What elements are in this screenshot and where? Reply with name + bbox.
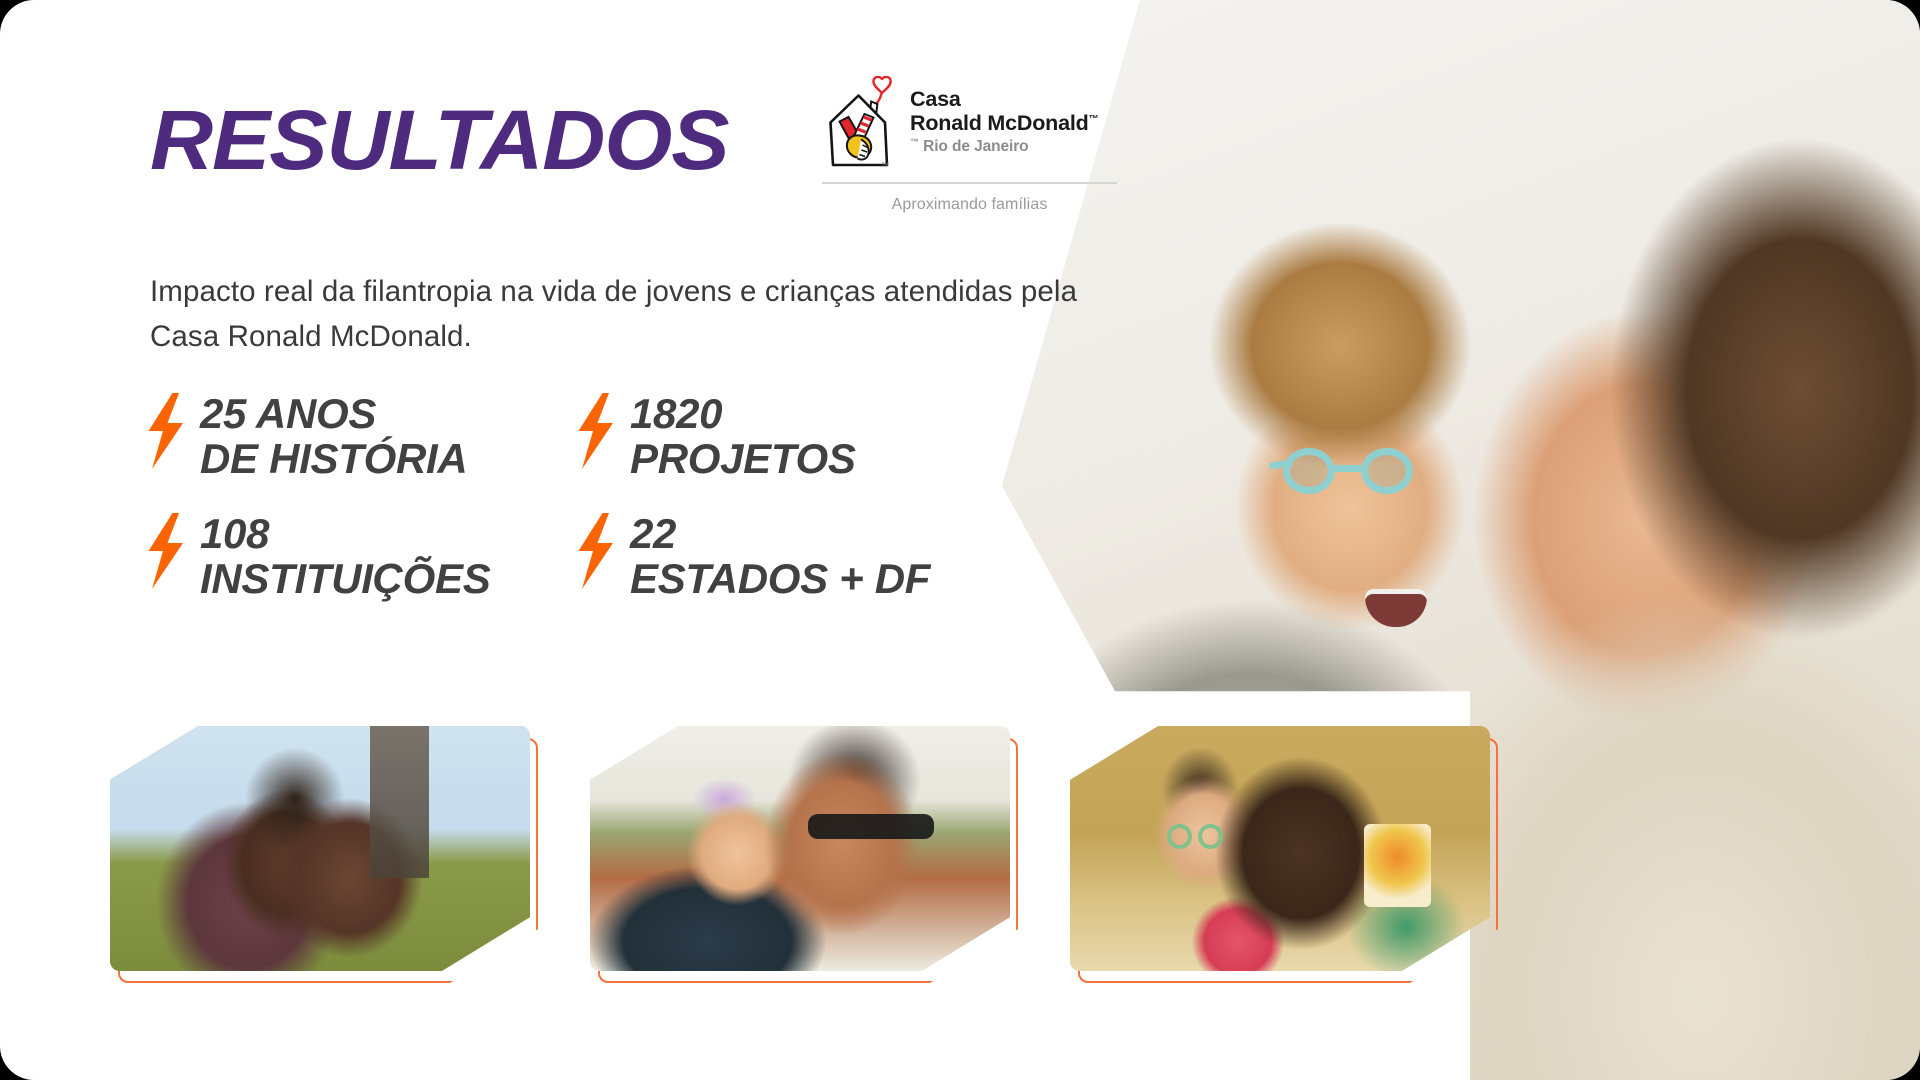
stat-item-years: 25 ANOS DE HISTÓRIA [146, 388, 576, 482]
stat-item-projects: 1820 PROJETOS [576, 388, 856, 482]
stat-label: 22 ESTADOS + DF [630, 508, 930, 602]
logo-divider [822, 182, 1117, 184]
thumbnail-item[interactable] [1070, 726, 1490, 971]
hero-child-glasses-icon [1275, 448, 1460, 494]
thumbnail-child-glasses-icon [1167, 824, 1225, 850]
thumbnail-photo [590, 726, 1010, 971]
lightning-bolt-icon [146, 513, 186, 594]
stat-label: 25 ANOS DE HISTÓRIA [200, 388, 467, 482]
thumbnail-photo [1070, 726, 1490, 971]
lead-paragraph: Impacto real da filantropia na vida de j… [150, 270, 1110, 360]
page-title: RESULTADOS [150, 98, 728, 182]
logo-name-line-1: Casa [910, 87, 961, 111]
thumbnail-item[interactable] [110, 726, 530, 971]
thumbnail-photo [110, 726, 530, 971]
stat-item-institutions: 108 INSTITUIÇÕES [146, 508, 576, 602]
results-slide: RESULTADOS [0, 0, 1920, 1080]
brand-logo: ™ Casa Ronald McDonald™ ™ Rio de Janeiro… [822, 76, 1122, 214]
stats-row-2: 108 INSTITUIÇÕES 22 ESTADOS + DF [146, 508, 1026, 602]
stats-grid: 25 ANOS DE HISTÓRIA 1820 PROJETOS 108 I [146, 388, 1026, 602]
stat-item-states: 22 ESTADOS + DF [576, 508, 930, 602]
stats-row-1: 25 ANOS DE HISTÓRIA 1820 PROJETOS [146, 388, 1026, 482]
logo-name-line-2: Ronald McDonald [910, 111, 1089, 135]
logo-city-trademark: ™ [910, 137, 919, 147]
thumbnail-item[interactable] [590, 726, 1010, 971]
lightning-bolt-icon [576, 393, 616, 474]
logo-trademark: ™ [1089, 114, 1099, 125]
thumbnail-strip [0, 726, 1560, 1026]
logo-city: Rio de Janeiro [923, 138, 1028, 155]
logo-tagline: Aproximando famílias [822, 196, 1117, 214]
stat-label: 108 INSTITUIÇÕES [200, 508, 490, 602]
stat-label: 1820 PROJETOS [630, 388, 856, 482]
lightning-bolt-icon [146, 393, 186, 474]
lightning-bolt-icon [576, 513, 616, 594]
svg-text:™: ™ [881, 161, 889, 168]
casa-ronald-mcdonald-house-heart-icon: ™ [822, 76, 896, 168]
